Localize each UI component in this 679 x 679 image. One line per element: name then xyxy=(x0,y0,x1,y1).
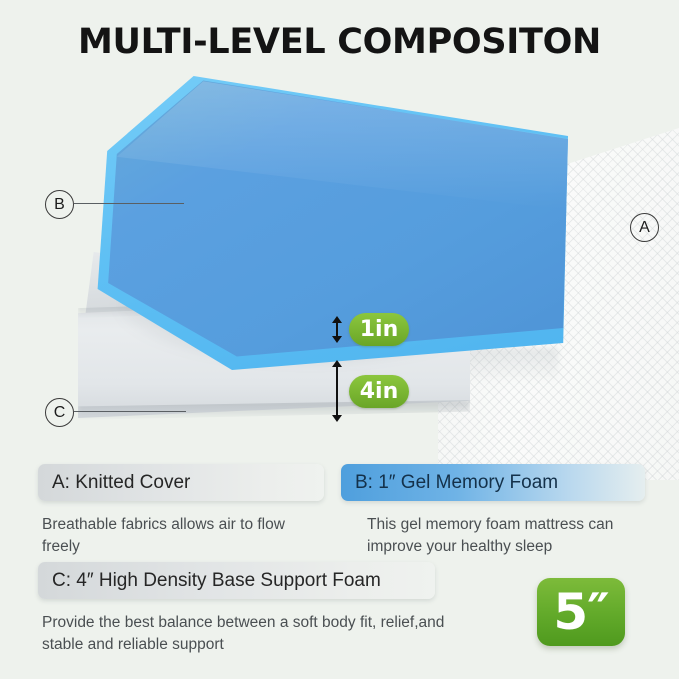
total-height-badge: 5″ xyxy=(537,578,625,646)
dimension-arrow-4in xyxy=(336,366,338,416)
arrow-down-icon xyxy=(332,336,342,343)
legend-description-c: Provide the best balance between a soft … xyxy=(42,612,462,656)
callout-marker-c: C xyxy=(45,398,74,427)
legend-title-c: C: 4″ High Density Base Support Foam xyxy=(38,562,435,599)
callout-marker-b: B xyxy=(45,190,74,219)
mattress-illustration: B C A 1in 4in xyxy=(0,70,679,445)
arrow-down-icon xyxy=(332,415,342,422)
page-title: MULTI-LEVEL COMPOSITON xyxy=(0,22,679,62)
leader-line-c xyxy=(74,411,186,412)
arrow-up-icon xyxy=(332,360,342,367)
legend-description-a: Breathable fabrics allows air to flow fr… xyxy=(42,514,312,558)
legend: A: Knitted Cover Breathable fabrics allo… xyxy=(0,452,679,679)
legend-title-b: B: 1″ Gel Memory Foam xyxy=(341,464,645,501)
dimension-badge-4in: 4in xyxy=(349,375,409,408)
dimension-arrow-1in xyxy=(336,322,338,337)
legend-description-b: This gel memory foam mattress can improv… xyxy=(367,514,647,558)
dimension-badge-1in: 1in xyxy=(349,313,409,346)
leader-line-b xyxy=(74,203,184,204)
legend-title-a: A: Knitted Cover xyxy=(38,464,324,501)
arrow-up-icon xyxy=(332,316,342,323)
callout-marker-a: A xyxy=(630,213,659,242)
